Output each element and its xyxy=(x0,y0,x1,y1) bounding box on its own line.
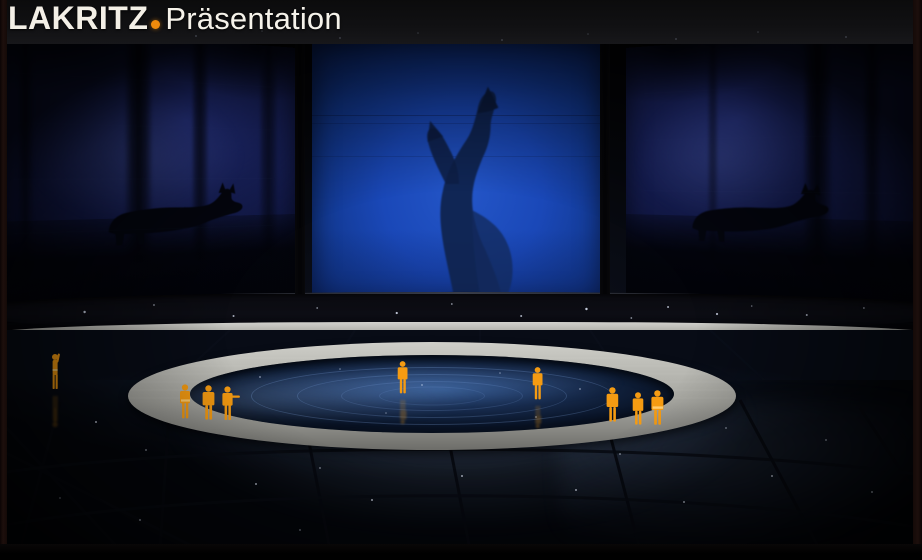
person-center-b xyxy=(531,366,545,400)
forest-scene-right xyxy=(626,23,922,325)
wolf-silhouette-left xyxy=(99,178,255,248)
person-center-a xyxy=(396,360,410,394)
person-left-b xyxy=(201,384,217,420)
stage-inner-sparkles xyxy=(190,355,674,433)
led-screen-wall xyxy=(10,34,912,306)
wolf-silhouette-right xyxy=(685,178,844,249)
figure-pointing-icon xyxy=(221,385,241,421)
person-right-c xyxy=(650,389,666,425)
person-right-a xyxy=(605,386,621,422)
figure-standing-icon xyxy=(631,391,646,425)
forest-scene-left xyxy=(0,23,296,325)
figure-standing-icon xyxy=(201,384,217,420)
screen-gap-right xyxy=(600,36,610,294)
screen-right xyxy=(626,23,922,325)
person-right-b xyxy=(631,391,646,425)
screen-left xyxy=(0,23,296,325)
figure-standing-icon xyxy=(178,383,193,419)
figure-arm-up-icon xyxy=(48,352,64,390)
brand-logo[interactable]: LAKRITZ Präsentation xyxy=(8,2,342,34)
figure-reflection xyxy=(531,405,545,429)
scene-container xyxy=(0,0,922,560)
screen-center xyxy=(312,42,602,302)
person-left-a xyxy=(178,383,193,419)
header-bar: LAKRITZ Präsentation xyxy=(0,0,922,44)
figure-standing-icon xyxy=(605,386,621,422)
logo-secondary-text: Präsentation xyxy=(165,3,341,34)
person-left-c xyxy=(221,385,241,421)
screen-gap-left xyxy=(295,36,305,294)
person-solo-left xyxy=(48,352,64,390)
figure-standing-icon xyxy=(531,366,545,400)
figure-reflection xyxy=(48,395,64,429)
person-center-a-reflection xyxy=(396,394,410,425)
person-solo-left-reflection xyxy=(48,390,64,429)
wolf-howling-silhouette xyxy=(387,84,549,302)
stage-visualization: LAKRITZ Präsentation xyxy=(0,0,922,560)
logo-primary-text: LAKRITZ xyxy=(8,2,148,34)
orange-dot-icon xyxy=(151,20,160,29)
person-center-b-reflection xyxy=(531,400,545,429)
stage-inner-disc xyxy=(190,355,674,433)
figure-standing-icon xyxy=(396,360,410,394)
figure-reflection xyxy=(396,399,410,425)
figure-standing-icon xyxy=(650,389,666,425)
